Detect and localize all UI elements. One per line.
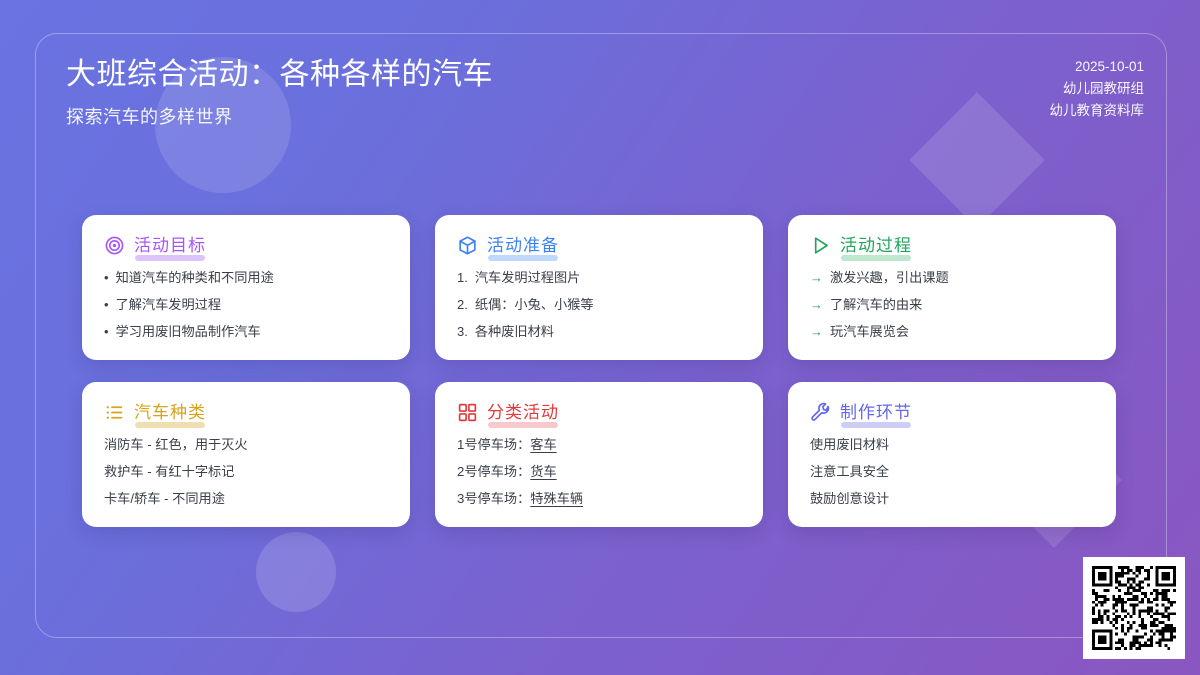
page-title: 大班综合活动：各种各样的汽车	[66, 56, 493, 94]
card-title-underline	[135, 422, 205, 428]
card-body: 1号停车场：客车2号停车场：货车3号停车场：特殊车辆	[457, 436, 741, 507]
card-title-wrap: 制作环节	[840, 403, 912, 423]
card-body: 1.汽车发明过程图片2.纸偶：小兔、小猴等3.各种废旧材料	[457, 269, 741, 340]
meta-date: 2025-10-01	[1050, 56, 1145, 78]
card-title: 分类活动	[487, 403, 559, 422]
card-body: 消防车 - 红色，用于灭火救护车 - 有红十字标记卡车/轿车 - 不同用途	[104, 436, 388, 507]
card-title-wrap: 汽车种类	[134, 403, 206, 423]
card-title-underline	[488, 255, 558, 261]
card-title-wrap: 活动过程	[840, 236, 912, 256]
card-title: 制作环节	[840, 403, 912, 422]
list-item-text: 学习用废旧物品制作汽车	[116, 323, 261, 341]
list-marker: •	[104, 269, 109, 287]
card-title-wrap: 活动目标	[134, 236, 206, 256]
list-item-text: 3号停车场：	[457, 490, 530, 508]
card-title-wrap: 分类活动	[487, 403, 559, 423]
card-making-session[interactable]: 制作环节使用废旧材料注意工具安全鼓励创意设计	[788, 382, 1116, 527]
card-header: 制作环节	[810, 402, 1094, 423]
list-marker: 2.	[457, 296, 468, 314]
list-item: 1号停车场：客车	[457, 436, 741, 454]
card-header: 活动准备	[457, 235, 741, 256]
card-title: 活动准备	[487, 236, 559, 255]
card-title-underline	[135, 255, 205, 261]
list-marker: 1.	[457, 269, 468, 287]
list-item: →玩汽车展览会	[810, 323, 1094, 341]
list-item: 消防车 - 红色，用于灭火	[104, 436, 388, 454]
card-activity-process[interactable]: 活动过程→激发兴趣，引出课题→了解汽车的由来→玩汽车展览会	[788, 215, 1116, 360]
box-icon	[457, 235, 478, 256]
list-item-text: 卡车/轿车 - 不同用途	[104, 490, 225, 508]
list-item-value[interactable]: 客车	[530, 436, 556, 454]
card-activity-goals[interactable]: 活动目标•知道汽车的种类和不同用途•了解汽车发明过程•学习用废旧物品制作汽车	[82, 215, 410, 360]
list-marker: •	[104, 296, 109, 314]
card-title: 活动过程	[840, 236, 912, 255]
list-item: 2号停车场：货车	[457, 463, 741, 481]
card-body: •知道汽车的种类和不同用途•了解汽车发明过程•学习用废旧物品制作汽车	[104, 269, 388, 340]
list-item: →激发兴趣，引出课题	[810, 269, 1094, 287]
card-title: 活动目标	[134, 236, 206, 255]
list-item: •了解汽车发明过程	[104, 296, 388, 314]
list-item: 卡车/轿车 - 不同用途	[104, 490, 388, 508]
page-subtitle: 探索汽车的多样世界	[66, 103, 493, 129]
list-icon	[104, 402, 125, 423]
card-title-wrap: 活动准备	[487, 236, 559, 256]
list-item-text: 消防车 - 红色，用于灭火	[104, 436, 248, 454]
target-icon	[104, 235, 125, 256]
list-item-text: 激发兴趣，引出课题	[830, 269, 949, 287]
card-header: 汽车种类	[104, 402, 388, 423]
list-item-text: 鼓励创意设计	[810, 490, 889, 508]
slide-root: 大班综合活动：各种各样的汽车 探索汽车的多样世界 2025-10-01 幼儿园教…	[0, 0, 1200, 675]
card-title: 汽车种类	[134, 403, 206, 422]
list-item-text: 纸偶：小兔、小猴等	[475, 296, 594, 314]
list-item: 2.纸偶：小兔、小猴等	[457, 296, 741, 314]
play-triangle-icon	[810, 235, 831, 256]
list-item-text: 2号停车场：	[457, 463, 530, 481]
card-car-types[interactable]: 汽车种类消防车 - 红色，用于灭火救护车 - 有红十字标记卡车/轿车 - 不同用…	[82, 382, 410, 527]
list-item: •知道汽车的种类和不同用途	[104, 269, 388, 287]
qr-code	[1092, 566, 1176, 650]
header-meta: 2025-10-01 幼儿园教研组 幼儿教育资料库	[1050, 56, 1145, 122]
meta-library: 幼儿教育资料库	[1050, 100, 1145, 122]
list-item: •学习用废旧物品制作汽车	[104, 323, 388, 341]
list-item: 使用废旧材料	[810, 436, 1094, 454]
wrench-icon	[810, 402, 831, 423]
card-header: 活动目标	[104, 235, 388, 256]
slide-header: 大班综合活动：各种各样的汽车 探索汽车的多样世界 2025-10-01 幼儿园教…	[66, 56, 1144, 129]
list-item-text: 了解汽车的由来	[830, 296, 922, 314]
list-item-text: 1号停车场：	[457, 436, 530, 454]
card-header: 活动过程	[810, 235, 1094, 256]
grid-category-icon	[457, 402, 478, 423]
list-item-text: 知道汽车的种类和不同用途	[116, 269, 274, 287]
card-header: 分类活动	[457, 402, 741, 423]
list-marker: →	[810, 269, 823, 287]
card-body: 使用废旧材料注意工具安全鼓励创意设计	[810, 436, 1094, 507]
card-sorting-activity[interactable]: 分类活动1号停车场：客车2号停车场：货车3号停车场：特殊车辆	[435, 382, 763, 527]
meta-org: 幼儿园教研组	[1050, 78, 1145, 100]
card-activity-preparation[interactable]: 活动准备1.汽车发明过程图片2.纸偶：小兔、小猴等3.各种废旧材料	[435, 215, 763, 360]
list-item-text: 了解汽车发明过程	[116, 296, 222, 314]
list-item-text: 救护车 - 有红十字标记	[104, 463, 234, 481]
list-item: 救护车 - 有红十字标记	[104, 463, 388, 481]
list-item-value[interactable]: 货车	[530, 463, 556, 481]
list-marker: →	[810, 323, 823, 341]
list-item: 1.汽车发明过程图片	[457, 269, 741, 287]
card-grid: 活动目标•知道汽车的种类和不同用途•了解汽车发明过程•学习用废旧物品制作汽车活动…	[82, 215, 1118, 527]
card-title-underline	[841, 422, 911, 428]
list-item: →了解汽车的由来	[810, 296, 1094, 314]
qr-code-box[interactable]	[1083, 557, 1185, 659]
title-block: 大班综合活动：各种各样的汽车 探索汽车的多样世界	[66, 56, 493, 129]
list-item: 鼓励创意设计	[810, 490, 1094, 508]
card-body: →激发兴趣，引出课题→了解汽车的由来→玩汽车展览会	[810, 269, 1094, 340]
decorative-circle-bottom-left	[256, 532, 336, 612]
list-item-text: 注意工具安全	[810, 463, 889, 481]
list-marker: •	[104, 323, 109, 341]
list-item: 3号停车场：特殊车辆	[457, 490, 741, 508]
list-marker: →	[810, 296, 823, 314]
card-title-underline	[488, 422, 558, 428]
list-item-text: 玩汽车展览会	[830, 323, 909, 341]
list-item-value[interactable]: 特殊车辆	[530, 490, 583, 508]
list-item: 注意工具安全	[810, 463, 1094, 481]
list-item-text: 汽车发明过程图片	[475, 269, 581, 287]
list-item: 3.各种废旧材料	[457, 323, 741, 341]
list-item-text: 使用废旧材料	[810, 436, 889, 454]
card-title-underline	[841, 255, 911, 261]
list-item-text: 各种废旧材料	[475, 323, 554, 341]
list-marker: 3.	[457, 323, 468, 341]
